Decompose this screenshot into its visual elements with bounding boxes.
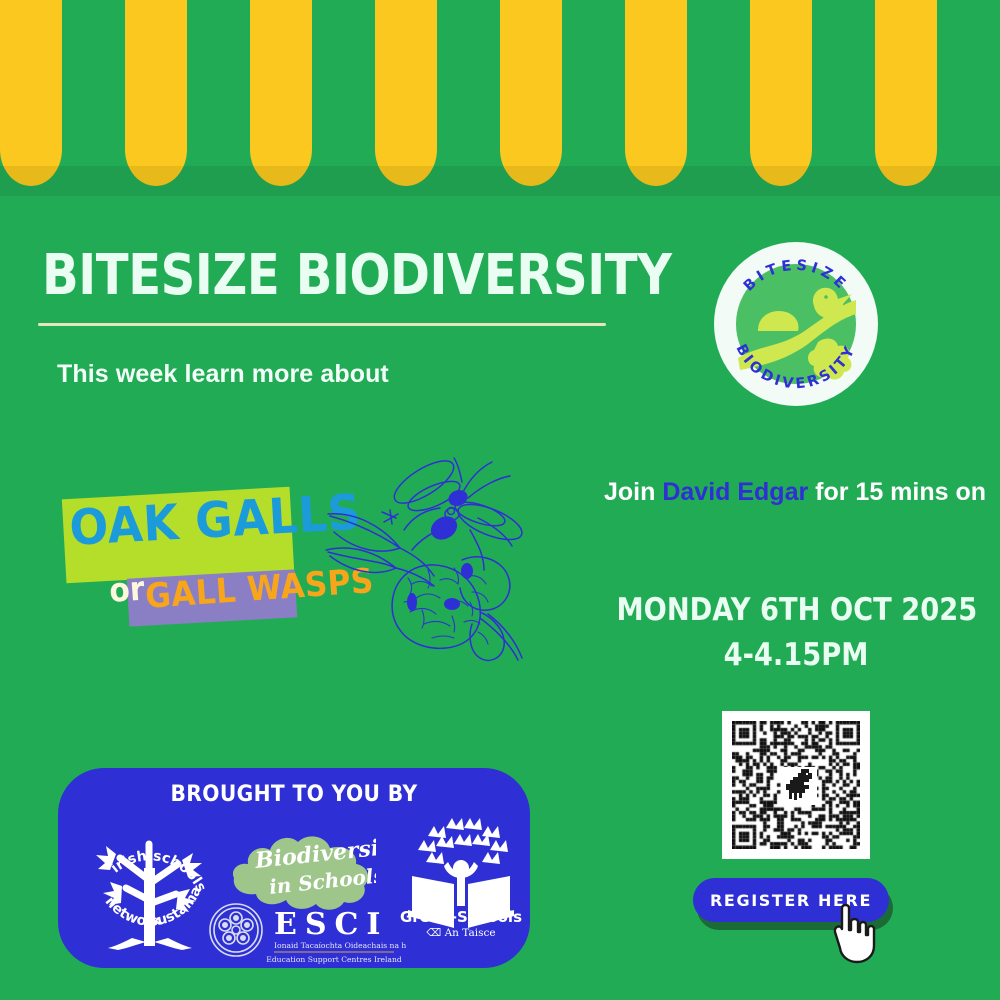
topic-connector: or (108, 569, 146, 610)
svg-text:schools: schools (152, 848, 209, 894)
join-suffix: for 15 mins on (815, 478, 986, 506)
logo-green-schools: Green-Schools ⌫ An Taisce (398, 810, 524, 938)
session-date: MONDAY 6TH OCT 2025 (616, 592, 975, 628)
topic-artwork: OAK GALLS or GALL WASPS (56, 485, 306, 645)
sponsors-title: BROUGHT TO YOU BY (77, 782, 511, 807)
pointer-hand-cursor (828, 902, 884, 964)
session-time: 4-4.15PM (616, 637, 975, 673)
esci-line-irish: Ionaid Tacaíochta Oideachais na hÉireann (274, 941, 406, 950)
awning-shade-band (0, 166, 1000, 196)
awning-stripe (250, 0, 312, 186)
awning-stripe (375, 0, 437, 186)
gs-line-1: Green-Schools (400, 908, 522, 926)
awning-stripe (0, 0, 62, 186)
awning-stripe (500, 0, 562, 186)
poster-canvas: BITESIZE BIODIVERSITY This week learn mo… (0, 0, 1000, 1000)
awning-stripe (625, 0, 687, 186)
speaker-name: David Edgar (662, 478, 808, 506)
awning-stripe (125, 0, 187, 186)
dinosaur-icon (781, 767, 817, 805)
logo-esci: ESCI Ionaid Tacaíochta Oideachais na hÉi… (206, 900, 406, 964)
qr-code[interactable] (722, 711, 870, 859)
gs-line-2: ⌫ An Taisce (426, 927, 495, 938)
session-join-line: Join David Edgar for 15 mins on (0, 478, 1000, 507)
join-prefix: Join (604, 478, 655, 506)
ring-word-schools: schools (152, 848, 209, 894)
esci-acronym: ESCI (274, 907, 388, 942)
page-subtitle: This week learn more about (57, 360, 389, 389)
awning-banner (0, 0, 1000, 196)
title-divider (38, 323, 606, 326)
logo-irish-schools-sustainability-network: irish schools network sustainability (76, 814, 224, 956)
sponsors-panel: BROUGHT TO YOU BY (58, 768, 530, 968)
page-title: BITESIZE BIODIVERSITY (42, 243, 672, 308)
awning-stripe (875, 0, 937, 186)
awning-stripe (750, 0, 812, 186)
bitesize-biodiversity-badge: BITESIZE BIODIVERSITY (710, 238, 882, 410)
esci-line-english: Education Support Centres Ireland (266, 955, 402, 964)
